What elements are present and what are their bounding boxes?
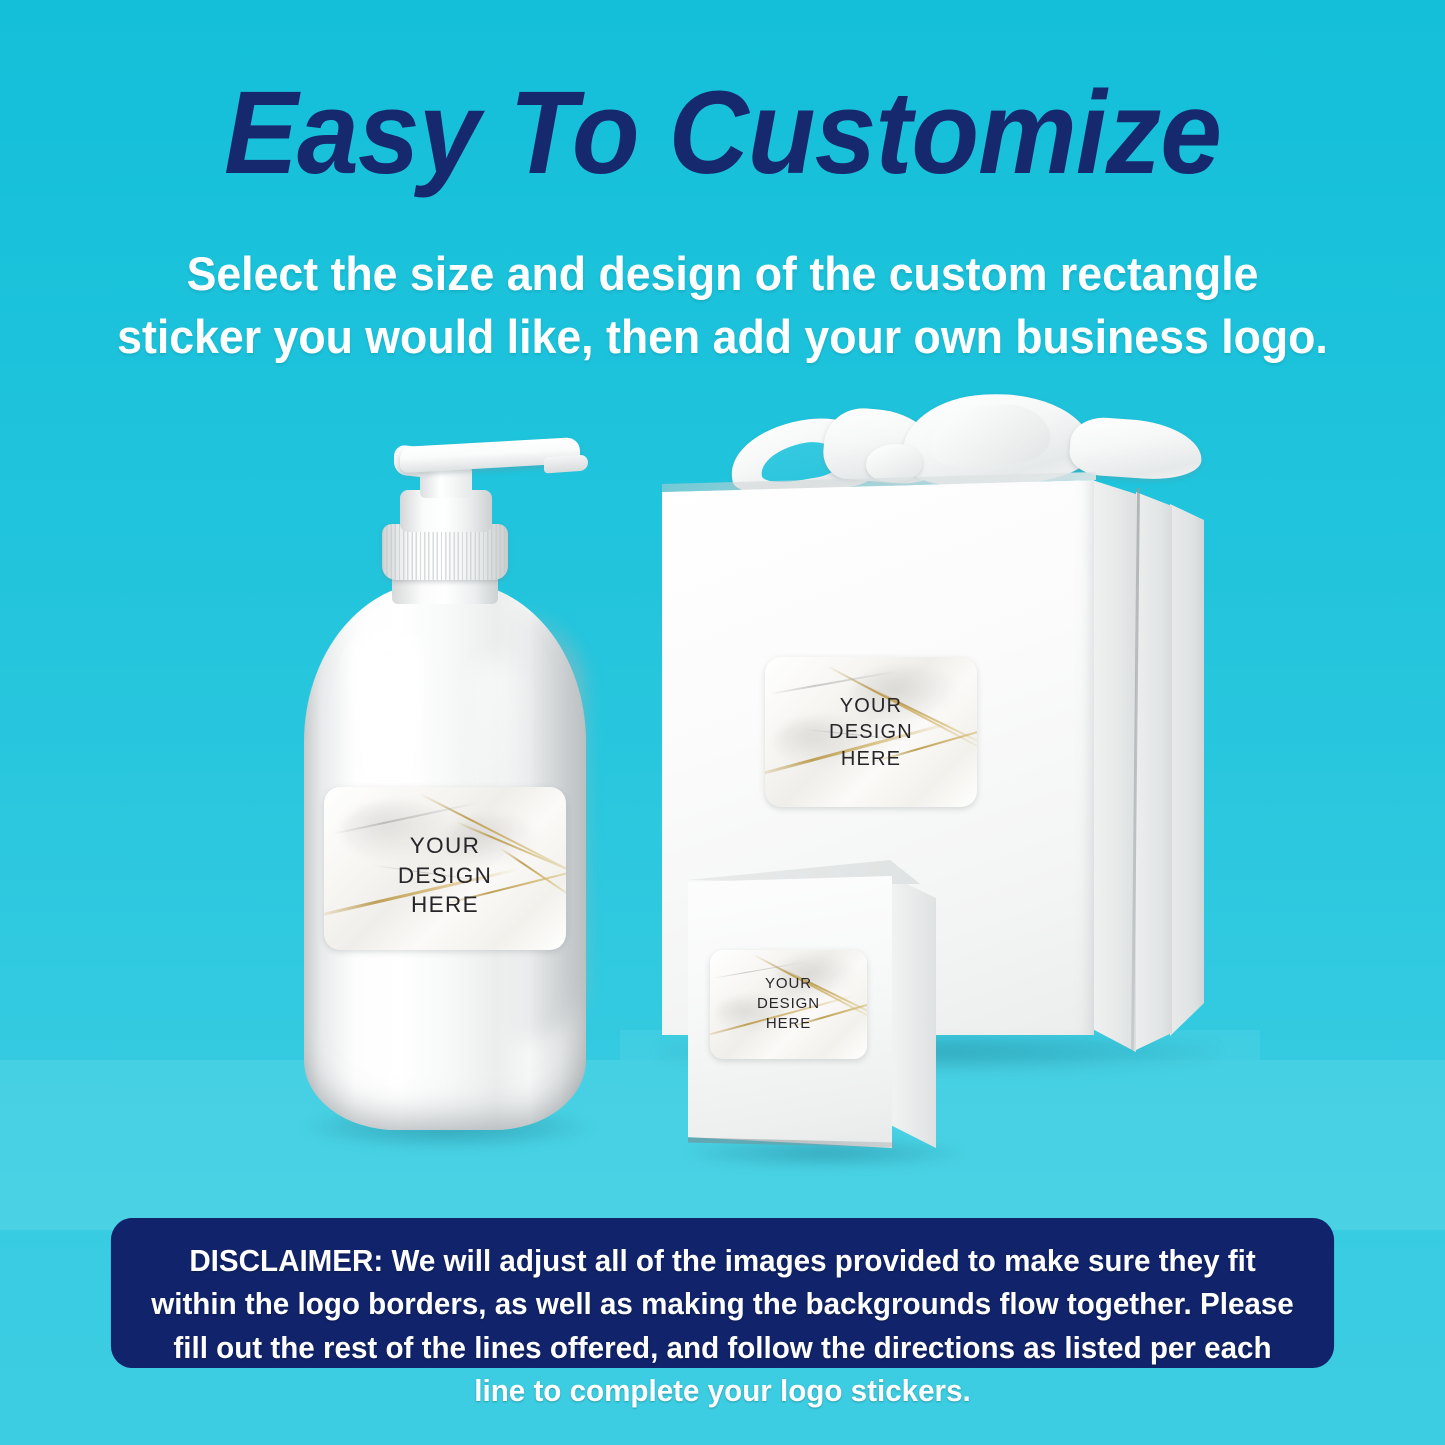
page-subtitle: Select the size and design of the custom…	[112, 243, 1333, 368]
disclaimer-banner: DISCLAIMER: We will adjust all of the im…	[111, 1218, 1334, 1368]
pump-nozzle-tip	[544, 454, 588, 473]
disclaimer-tag: DISCLAIMER:	[189, 1244, 383, 1278]
sticker-line-2: DESIGN	[765, 719, 977, 745]
bottle-marble-sticker: YOUR DESIGN HERE	[324, 787, 566, 950]
sticker-text: YOUR DESIGN HERE	[765, 693, 977, 772]
sticker-line-3: HERE	[765, 746, 977, 772]
sticker-text: YOUR DESIGN HERE	[710, 974, 867, 1033]
bottle-ribbed-collar	[382, 524, 508, 580]
promo-graphic: Easy To Customize Select the size and de…	[0, 0, 1445, 1445]
small-box-marble-sticker: YOUR DESIGN HERE	[710, 950, 867, 1059]
gift-box-lid-panel-1	[1136, 478, 1172, 1050]
gift-box-lid-panel-2	[1170, 488, 1204, 1036]
gift-box-side-face	[1092, 472, 1136, 1052]
gift-box-marble-sticker: YOUR DESIGN HERE	[765, 657, 977, 807]
sticker-line-3: HERE	[710, 1014, 867, 1034]
page-title: Easy To Customize	[43, 74, 1401, 192]
sticker-line-1: YOUR	[765, 693, 977, 719]
sticker-line-1: YOUR	[710, 974, 867, 994]
pump-bottle: YOUR DESIGN HERE	[296, 432, 596, 1172]
sticker-text: YOUR DESIGN HERE	[324, 831, 566, 920]
sticker-line-2: DESIGN	[324, 861, 566, 891]
sticker-line-3: HERE	[324, 890, 566, 920]
small-box-side-face	[890, 858, 936, 1148]
sticker-line-2: DESIGN	[710, 994, 867, 1014]
sticker-line-1: YOUR	[324, 831, 566, 861]
